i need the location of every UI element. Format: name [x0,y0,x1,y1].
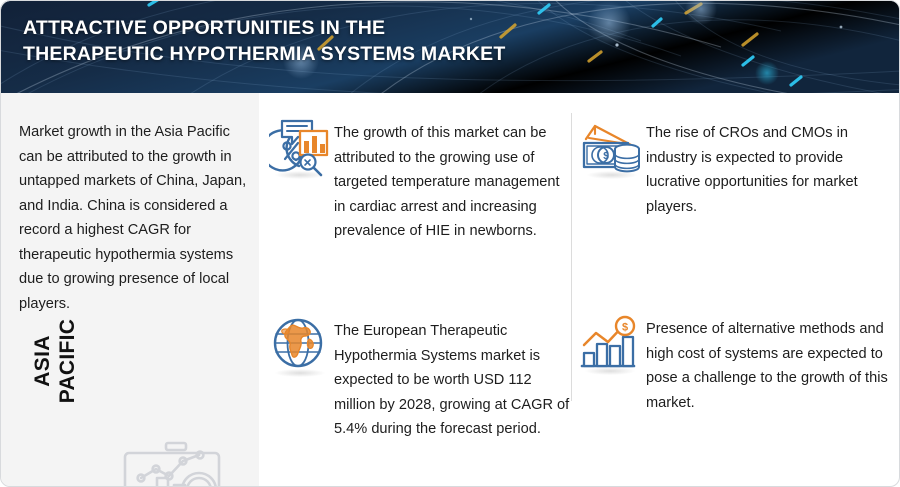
icon-shadow [275,369,325,377]
icon-shadow [585,367,635,375]
bar-chart-dollar-growth-icon: $ [579,315,641,378]
market-analysis-percent-icon [269,119,331,182]
region-label: ASIA PACIFIC [30,286,80,436]
infographic-root: ATTRACTIVE OPPORTUNITIES IN THE THERAPEU… [0,0,900,487]
money-coins-icon: $ [581,119,641,182]
card-body-text: The growth of this market can be attribu… [334,121,574,244]
card-body-text: The rise of CROs and CMOs in industry is… [646,121,896,219]
presentation-chart-search-icon [123,438,233,487]
svg-text:$: $ [622,322,628,334]
globe-icon [269,317,327,380]
card-body-text: Presence of alternative methods and high… [646,317,896,415]
header-banner: ATTRACTIVE OPPORTUNITIES IN THE THERAPEU… [1,1,900,93]
card-body-text: The European Therapeutic Hypothermia Sys… [334,319,574,442]
page-title: ATTRACTIVE OPPORTUNITIES IN THE THERAPEU… [23,15,643,67]
icon-shadow [275,171,325,179]
icon-shadow [587,171,637,179]
left-region-panel: Market growth in the Asia Pacific can be… [1,93,259,487]
svg-text:$: $ [603,151,609,162]
